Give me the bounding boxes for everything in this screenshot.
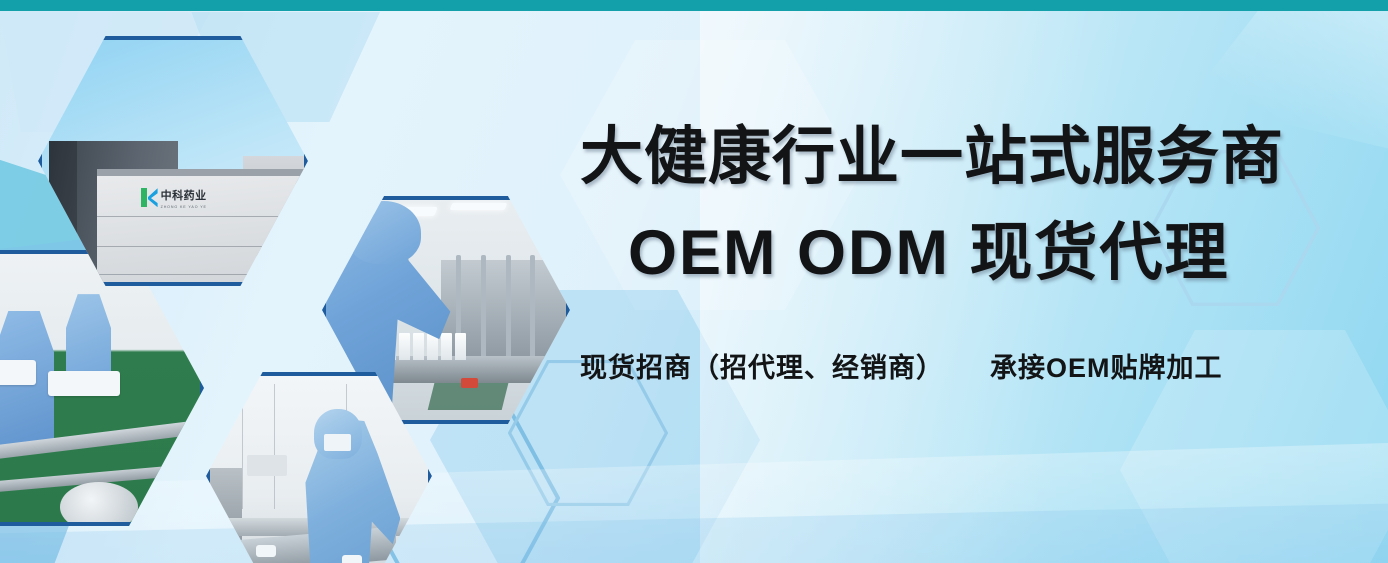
promo-banner: 中科药业 ZHONG KE YAO YE — [0, 0, 1388, 563]
headline-secondary: OEM ODM 现货代理 — [580, 216, 1370, 290]
subtitle-row: 现货招商（招代理、经销商） 承接OEM贴牌加工 — [580, 346, 1370, 385]
subtitle-right: 承接OEM贴牌加工 — [990, 346, 1223, 385]
bg-band-bottom — [0, 443, 1388, 563]
headline-primary: 大健康行业一站式服务商 — [580, 120, 1370, 194]
bg-band-bottom-secondary — [0, 497, 1388, 563]
subtitle-left: 现货招商（招代理、经销商） — [580, 346, 944, 385]
top-accent-bar — [0, 0, 1388, 11]
headline-block: 大健康行业一站式服务商 OEM ODM 现货代理 现货招商（招代理、经销商） 承… — [580, 120, 1370, 385]
photo-hexagon-production-line — [0, 250, 204, 526]
photo-hexagon-factory-building: 中科药业 ZHONG KE YAO YE — [38, 36, 308, 286]
